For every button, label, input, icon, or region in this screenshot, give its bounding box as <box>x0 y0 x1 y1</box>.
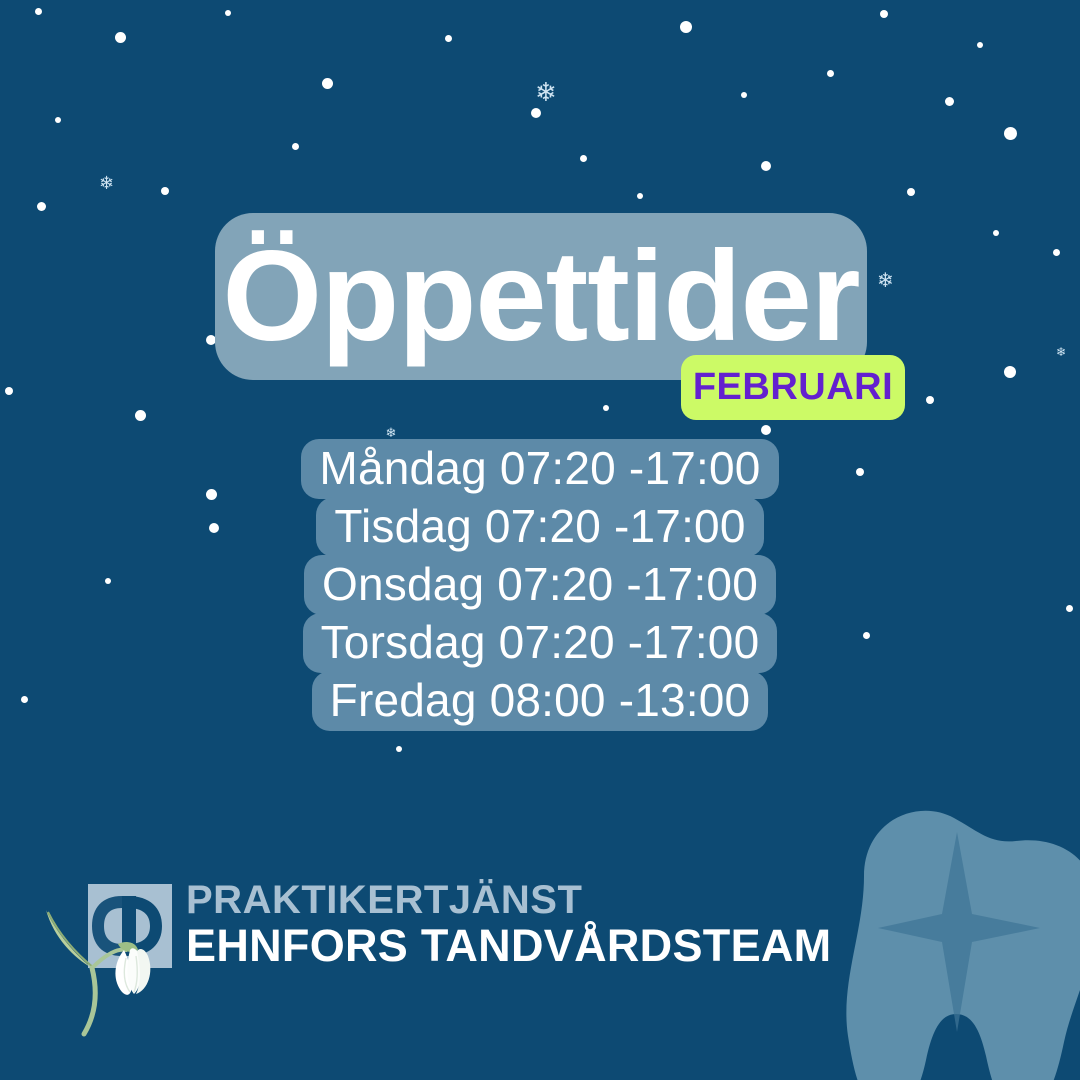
snow-dot <box>741 92 747 98</box>
snow-dot <box>993 230 999 236</box>
snow-dot <box>1004 127 1017 140</box>
logo-wordmark: PRAKTIKERTJÄNST EHNFORS TANDVÅRDSTEAM <box>186 880 831 969</box>
snow-dot <box>637 193 643 199</box>
snow-dot <box>603 405 609 411</box>
snow-dot <box>761 161 771 171</box>
opening-hours-row: Tisdag 07:20 -17:00 <box>316 497 763 557</box>
snow-dot <box>322 78 333 89</box>
snow-dot <box>880 10 888 18</box>
snow-dot <box>761 425 771 435</box>
opening-hours-row: Torsdag 07:20 -17:00 <box>303 613 778 673</box>
snow-dot <box>5 387 13 395</box>
poster-canvas: ❄❄❄❄❄ Öppettider FEBRUARI Måndag 07:20 -… <box>0 0 1080 1080</box>
snow-dot <box>1053 249 1060 256</box>
snow-dot <box>396 746 402 752</box>
logo-mark-wrapper <box>88 884 172 968</box>
snow-dot <box>1004 366 1016 378</box>
snow-dot <box>827 70 834 77</box>
month-badge: FEBRUARI <box>681 355 905 420</box>
snow-dot <box>35 8 42 15</box>
snowdrop-flower-icon <box>40 888 160 1038</box>
brand-name-secondary: EHNFORS TANDVÅRDSTEAM <box>186 922 831 969</box>
opening-hours-row: Onsdag 07:20 -17:00 <box>304 555 776 615</box>
snowflake-icon: ❄ <box>386 426 397 439</box>
opening-hours-row: Måndag 07:20 -17:00 <box>301 439 778 499</box>
snow-dot <box>225 10 231 16</box>
snowflake-icon: ❄ <box>1056 346 1066 358</box>
opening-hours-list: Måndag 07:20 -17:00Tisdag 07:20 -17:00On… <box>0 440 1080 730</box>
snowflake-icon: ❄ <box>877 271 894 291</box>
snow-dot <box>37 202 46 211</box>
brand-name-primary: PRAKTIKERTJÄNST <box>186 880 831 920</box>
snow-dot <box>55 117 61 123</box>
snow-dot <box>292 143 299 150</box>
snow-dot <box>680 21 692 33</box>
snow-dot <box>135 410 146 421</box>
snow-dot <box>907 188 915 196</box>
logo-lockup: PRAKTIKERTJÄNST EHNFORS TANDVÅRDSTEAM <box>88 880 831 969</box>
snow-dot <box>531 108 541 118</box>
snow-dot <box>945 97 954 106</box>
snow-dot <box>580 155 587 162</box>
snowflake-icon: ❄ <box>535 79 557 105</box>
opening-hours-row: Fredag 08:00 -13:00 <box>312 671 769 731</box>
snow-dot <box>161 187 169 195</box>
tooth-with-sparkle-icon <box>802 784 1080 1080</box>
snow-dot <box>115 32 126 43</box>
snow-dot <box>926 396 934 404</box>
snow-dot <box>445 35 452 42</box>
snow-dot <box>977 42 983 48</box>
snowflake-icon: ❄ <box>99 174 114 192</box>
